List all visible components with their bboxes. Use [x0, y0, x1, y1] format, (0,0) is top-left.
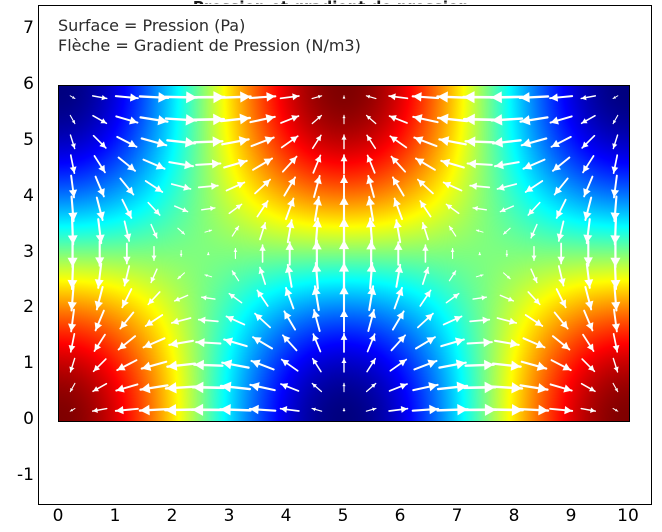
annotation-line-arrow: Flèche = Gradient de Pression (N/m3): [58, 36, 361, 56]
x-tick-label: 1: [95, 508, 135, 525]
x-tick-label: 6: [380, 508, 420, 525]
x-tick-label: 7: [437, 508, 477, 525]
y-tick-label: 4: [4, 188, 34, 205]
x-tick-label: 9: [551, 508, 591, 525]
y-axis-ticks: -101234567: [0, 0, 34, 532]
clipped-window-title: Pression et gradient de pression: [0, 0, 662, 4]
y-tick-label: 2: [4, 299, 34, 316]
y-tick-label: 0: [4, 411, 34, 428]
y-tick-label: -1: [4, 467, 34, 484]
y-tick-label: 3: [4, 244, 34, 261]
x-tick-label: 2: [152, 508, 192, 525]
x-tick-label: 10: [608, 508, 648, 525]
x-tick-label: 3: [209, 508, 249, 525]
pressure-surface: [58, 85, 630, 422]
y-tick-label: 7: [4, 20, 34, 37]
x-tick-label: 4: [266, 508, 306, 525]
plot-annotation-block: Surface = Pression (Pa) Flèche = Gradien…: [58, 16, 361, 56]
pressure-heatmap-canvas: [59, 86, 629, 421]
plot-window: Pression et gradient de pression Surface…: [0, 0, 662, 532]
x-tick-label: 8: [494, 508, 534, 525]
x-tick-label: 0: [38, 508, 78, 525]
y-tick-label: 5: [4, 132, 34, 149]
y-tick-label: 6: [4, 76, 34, 93]
y-tick-label: 1: [4, 355, 34, 372]
annotation-line-surface: Surface = Pression (Pa): [58, 16, 361, 36]
x-tick-label: 5: [323, 508, 363, 525]
